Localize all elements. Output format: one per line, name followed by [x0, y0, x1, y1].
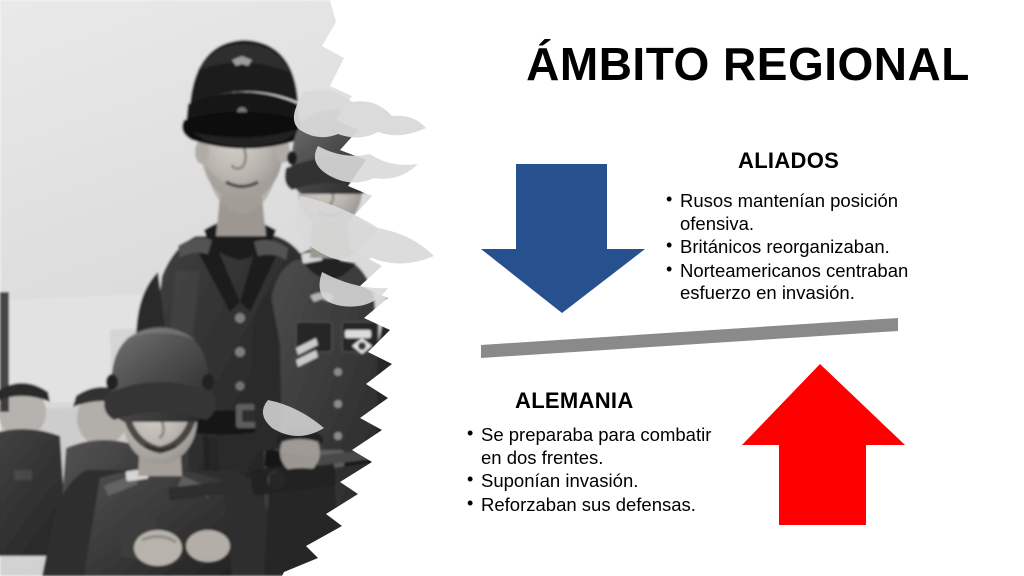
- historical-photo-image: [0, 0, 470, 576]
- red-up-arrow: [742, 364, 905, 525]
- list-item: Norteamericanos centraban esfuerzo en in…: [666, 260, 942, 305]
- list-item: Se preparaba para combatir en dos frente…: [467, 424, 717, 469]
- historical-photo: [0, 0, 470, 576]
- section-heading-aliados: ALIADOS: [738, 148, 839, 174]
- bullet-list-alemania: Se preparaba para combatir en dos frente…: [467, 424, 717, 517]
- section-heading-alemania: ALEMANIA: [515, 388, 634, 414]
- list-item: Británicos reorganizaban.: [666, 236, 942, 259]
- presentation-slide: ÁMBITO REGIONAL ALIADOS Rusos mantenían …: [0, 0, 1024, 576]
- list-item: Suponían invasión.: [467, 470, 717, 493]
- page-title: ÁMBITO REGIONAL: [478, 40, 1018, 90]
- list-item: Reforzaban sus defensas.: [467, 494, 717, 517]
- blue-down-arrow: [481, 164, 645, 313]
- bullet-list-aliados: Rusos mantenían posición ofensiva. Britá…: [666, 190, 942, 306]
- gray-diagonal-bar: [481, 318, 898, 358]
- list-item: Rusos mantenían posición ofensiva.: [666, 190, 942, 235]
